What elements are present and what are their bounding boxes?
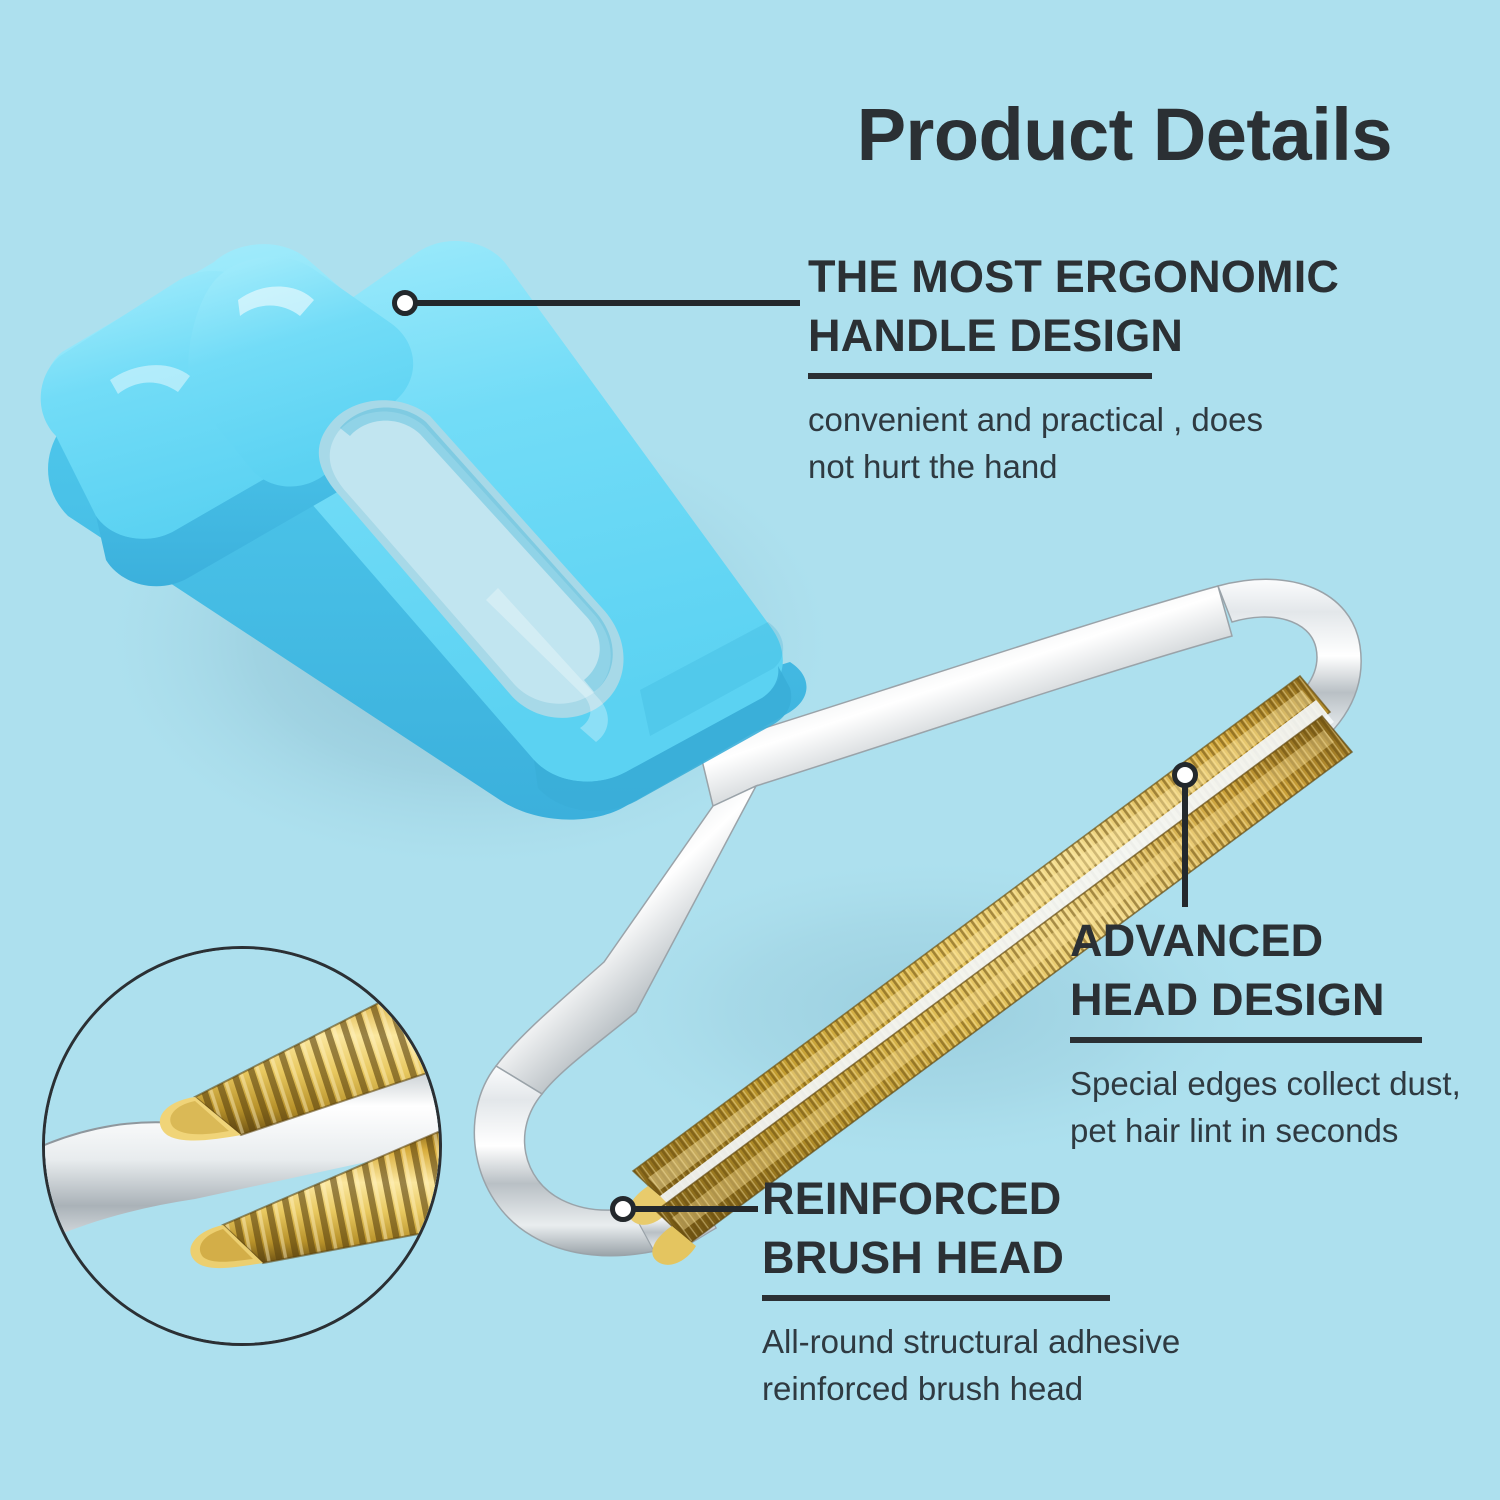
callout-brush-heading: REINFORCED BRUSH HEAD <box>762 1170 1262 1287</box>
callout-brush: REINFORCED BRUSH HEAD All-round structur… <box>762 1170 1262 1413</box>
callout-ergonomic-body: convenient and practical , does not hurt… <box>808 397 1428 491</box>
leader-line-ergonomic <box>415 300 800 306</box>
callout-ergonomic-heading: THE MOST ERGONOMIC HANDLE DESIGN <box>808 248 1428 365</box>
page-title: Product Details <box>857 92 1392 177</box>
callout-advanced-heading: ADVANCED HEAD DESIGN <box>1070 912 1490 1029</box>
leader-line-advanced <box>1182 785 1188 907</box>
callout-ergonomic: THE MOST ERGONOMIC HANDLE DESIGN conveni… <box>808 248 1428 491</box>
callout-advanced-body: Special edges collect dust, pet hair lin… <box>1070 1061 1490 1155</box>
leader-line-brush <box>634 1206 758 1212</box>
callout-dot-ergonomic <box>392 290 418 316</box>
brush-head-closeup-inset <box>42 946 442 1346</box>
callout-advanced: ADVANCED HEAD DESIGN Special edges colle… <box>1070 912 1490 1155</box>
callout-dot-advanced <box>1172 762 1198 788</box>
callout-ergonomic-rule <box>808 373 1152 379</box>
callout-brush-body: All-round structural adhesive reinforced… <box>762 1319 1262 1413</box>
product-details-infographic: Product Details THE MOST ERGONOMIC HANDL… <box>0 0 1500 1500</box>
callout-advanced-rule <box>1070 1037 1422 1043</box>
callout-dot-brush <box>610 1196 636 1222</box>
callout-brush-rule <box>762 1295 1110 1301</box>
